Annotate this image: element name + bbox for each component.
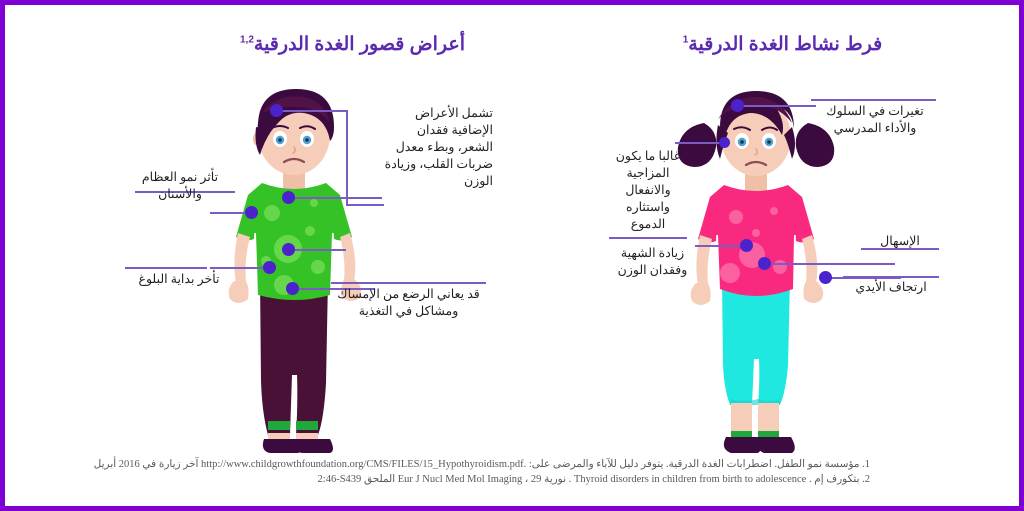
marker-dot-boy-head [270, 104, 283, 117]
panel-title-hypothyroidism: أعراض قصور الغدة الدرقية1,2 [165, 33, 540, 56]
marker-dot-girl-hand [819, 271, 832, 284]
label-girl-moodiness: غالبا ما يكون المزاجية والانفعال واستثار… [609, 148, 687, 233]
label-boy-infant-constipation: قد يعاني الرضع من الإمساك ومشاكل في التغ… [331, 286, 486, 320]
footnote-item-1: 1. مؤسسة نمو الطفل. اضطرابات الغدة الدرق… [155, 457, 870, 472]
label-girl-hand-tremor: ارتجاف الأيدي [843, 279, 939, 296]
marker-dot-girl-head [731, 99, 744, 112]
marker-dot-boy-chest [282, 191, 295, 204]
label-girl-behaviour-school: تغيرات في السلوك والأداء المدرسي [811, 103, 939, 137]
label-boy-bone-teeth: تأثر نمو العظام والأسنان [125, 169, 235, 203]
leader-boy-head-vert [346, 110, 348, 205]
marker-dot-boy-hip [263, 261, 276, 274]
footnote-1-number: 1. [862, 459, 870, 470]
footnote-1-text-a: مؤسسة نمو الطفل. اضطرابات الغدة الدرقية.… [529, 459, 860, 470]
panel-title-hypothyroidism-text: أعراض قصور الغدة الدرقية [254, 34, 465, 55]
leader-girl-face-underline [609, 237, 687, 239]
footnote-item-2: 2. بتكورف إم . Thyroid disorders in chil… [155, 472, 870, 487]
footnotes: 1. مؤسسة نمو الطفل. اضطرابات الغدة الدرق… [155, 457, 870, 487]
infographic-page: أعراض قصور الغدة الدرقية1,2 فرط نشاط الغ… [0, 0, 1024, 511]
leader-boy-hip-underline [125, 267, 207, 269]
footnote-1-url[interactable]: http://www.childgrowthfoundation.org/CMS… [201, 459, 526, 470]
leader-girl-hand-underline [843, 276, 939, 278]
leader-girl-belly [767, 263, 895, 265]
footnote-2-article-title: Thyroid disorders in children from birth… [574, 474, 806, 485]
footnote-1-text-b: آخر زيارة في 2016 أبريل [94, 459, 199, 470]
panel-title-hyperthyroidism: فرط نشاط الغدة الدرقية1 [605, 33, 960, 56]
footnote-2-number: 2. [862, 474, 870, 485]
footnote-2-text-b: . نورية [544, 474, 571, 485]
marker-dot-boy-lowbelly [286, 282, 299, 295]
leader-boy-belly [290, 249, 346, 251]
footnote-2-pages: 2:46-S439 [318, 474, 362, 485]
leader-girl-head-underline [811, 99, 936, 101]
infographic-canvas: أعراض قصور الغدة الدرقية1,2 فرط نشاط الغ… [5, 5, 1019, 506]
marker-dot-girl-face [719, 137, 730, 148]
label-girl-diarrhea: الإسهال [861, 233, 939, 250]
leader-boy-chest [290, 197, 382, 199]
label-boy-additional-symptoms: تشمل الأعراض الإضافية فقدان الشعر، وبطء … [383, 105, 493, 190]
marker-dot-girl-belly [758, 257, 771, 270]
panel-title-hyperthyroidism-text: فرط نشاط الغدة الدرقية [688, 34, 882, 55]
marker-dot-boy-belly [282, 243, 295, 256]
label-girl-appetite-weight: زيادة الشهية وفقدان الوزن [605, 245, 700, 279]
footnote-2-text-a: بتكورف إم . [809, 474, 860, 485]
leader-boy-head [277, 110, 347, 112]
label-boy-delayed-puberty: تأخر بداية البلوغ [123, 271, 235, 288]
leader-girl-head [738, 105, 816, 107]
panel-title-hypothyroidism-superscript: 1,2 [240, 35, 254, 46]
leader-boy-lowbelly-underline [331, 282, 486, 284]
leader-boy-head-foot [346, 204, 384, 206]
marker-dot-girl-torso [740, 239, 753, 252]
marker-dot-boy-arm [245, 206, 258, 219]
footnote-2-journal: Eur J Nucl Med Mol Imaging [398, 474, 523, 485]
